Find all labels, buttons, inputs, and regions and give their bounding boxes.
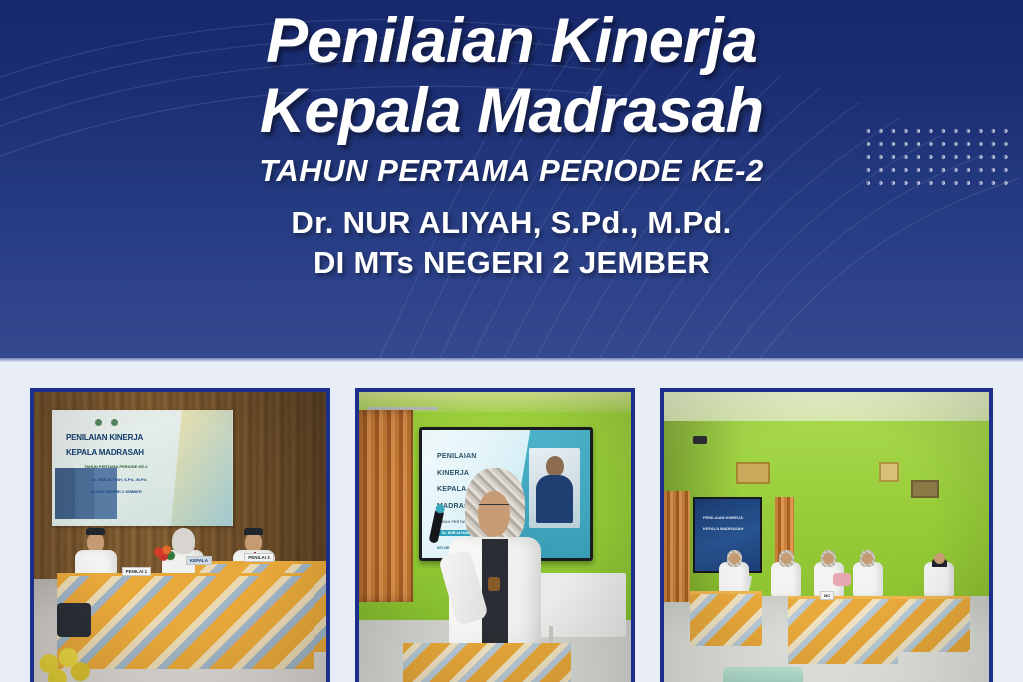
orange-curtain-left [664,491,690,602]
wall-picture-3 [911,480,939,498]
classroom-table-1 [690,591,762,647]
projector-icon [693,436,707,444]
slide-line-1: PENILAIAN KINERJA [703,515,743,520]
classroom-table-2 [788,596,899,663]
curtain-rod [367,407,438,410]
banner-subtitle: TAHUN PERTAMA PERIODE KE-2 [84,464,147,469]
batik-table-cloth [403,643,572,682]
poster-subtitle: TAHUN PERTAMA PERIODE KE-2 [259,154,763,188]
ministry-logo-icon [111,419,118,426]
yellow-flowers [37,646,97,682]
wall-picture-1 [736,462,770,484]
institution-logo-icon [95,419,102,426]
slide-line-2: KEPALA MADRASAH [703,526,743,531]
name-plate-penilai-1: PENILAI 1 [122,567,152,576]
banner-location: DI MTs NEGERI 2 JEMBER [91,489,141,494]
name-plate-mc: MC [820,591,834,600]
poster-title-line-2: Kepala Madrasah [260,80,763,142]
banner-title-line-1: PENILAIAN KINERJA [66,433,143,442]
poster-title-line-1: Penilaian Kinerja [266,10,757,72]
slide-line-1: PENILAIAN [437,453,477,460]
photo-2[interactable]: PENILAIAN KINERJA KEPALA MADRASAH TAHUN … [355,388,635,682]
face [478,491,511,537]
poster-person-name: Dr. NUR ALIYAH, S.Pd., M.Pd. [291,204,731,242]
wall-picture-2 [879,462,899,482]
pink-bag [833,573,851,586]
peci-cap-icon [86,528,105,535]
hijab-icon [172,528,195,554]
white-uniform [924,562,954,596]
banner-decoration [171,410,233,527]
photo-1[interactable]: PENILAIAN KINERJA KEPALA MADRASAH TAHUN … [30,388,330,682]
photo-3[interactable]: PENILAIAN KINERJA KEPALA MADRASAH [660,388,993,682]
seated-person-2 [771,550,801,596]
face [934,553,945,564]
banner-title-line-2: KEPALA MADRASAH [66,448,144,457]
classroom-table-3 [898,596,970,652]
event-banner: PENILAIAN KINERJA KEPALA MADRASAH TAHUN … [52,410,233,527]
photo-strip: PENILAIAN KINERJA KEPALA MADRASAH TAHUN … [0,362,1023,682]
seated-person-5 [924,559,954,596]
orange-curtain [359,410,413,603]
glasses-icon [479,504,509,509]
peci-cap-icon [244,528,263,535]
white-uniform [771,562,801,596]
seated-person-1 [719,550,749,596]
white-uniform [853,562,883,596]
green-bag-foreground [723,667,803,682]
black-bag [57,603,91,637]
banner-person-name: Dr. NUR ALIYAH, S.Pd., M.Pd. [91,477,147,482]
poster-location: DI MTs NEGERI 2 JEMBER [313,244,710,282]
seated-person-4 [853,550,883,596]
poster-header: Penilaian Kinerja Kepala Madrasah TAHUN … [0,0,1023,358]
name-plate-kepala: KEPALA [186,556,212,565]
poster-root: Penilaian Kinerja Kepala Madrasah TAHUN … [0,0,1023,682]
pendant [488,577,500,591]
name-plate-penilai-3: PENILAI 3 [244,553,274,562]
